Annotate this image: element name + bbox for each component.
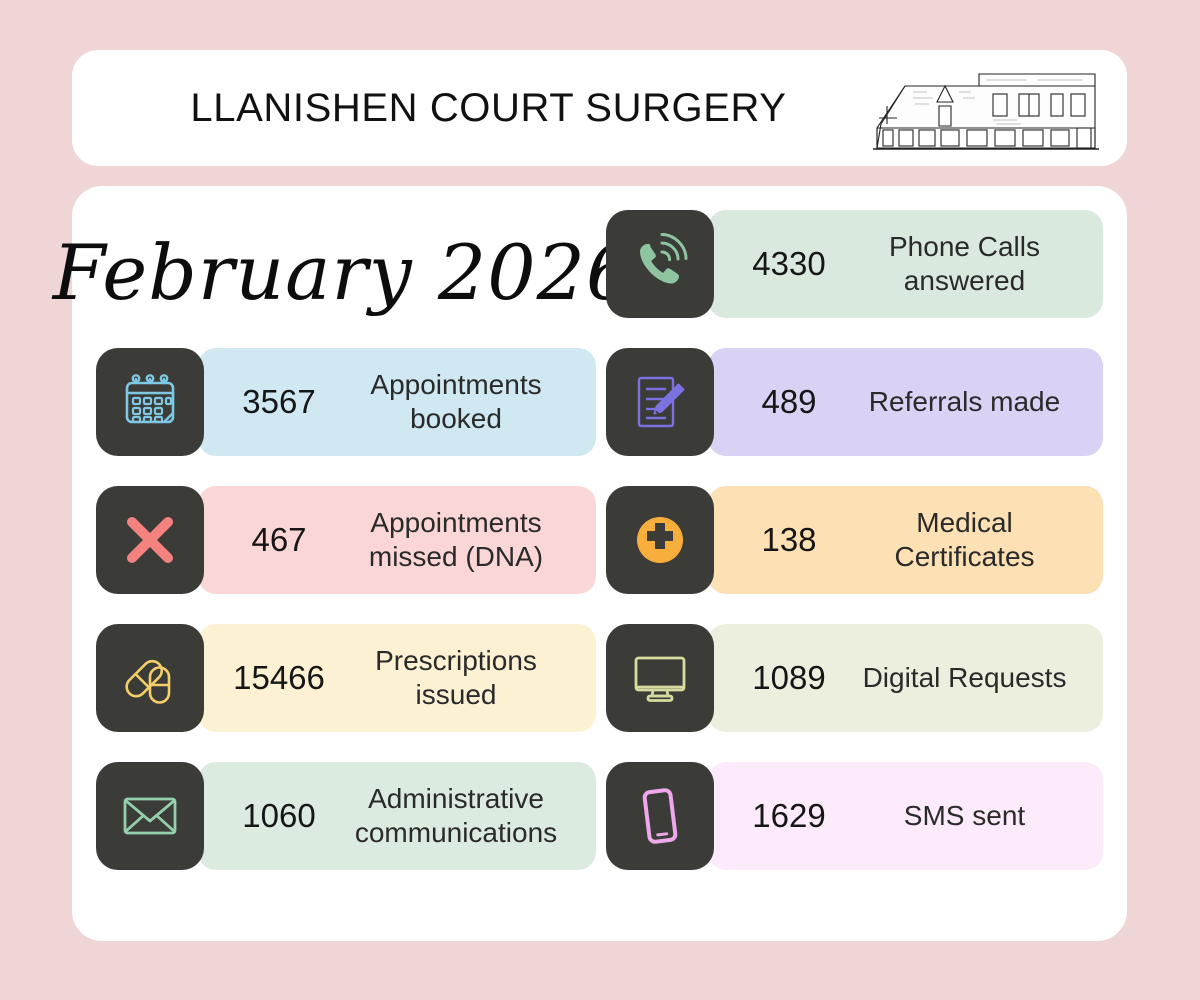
stat-label-sms-sent: SMS sent — [848, 799, 1085, 833]
monitor-icon — [606, 624, 714, 732]
stat-label-prescriptions-issued: Prescriptions issued — [338, 644, 578, 712]
stats-panel: February 2026 4330Phone Calls answered35… — [72, 186, 1127, 941]
stat-card-referrals-made: 489Referrals made — [606, 348, 1103, 456]
stat-value-appointments-missed-dna: 467 — [220, 522, 338, 558]
stat-body-appointments-missed-dna: 467Appointments missed (DNA) — [198, 486, 596, 594]
stat-body-phone-calls-answered: 4330Phone Calls answered — [708, 210, 1103, 318]
medical-cross-circle-icon — [606, 486, 714, 594]
page-title: LLANISHEN COURT SURGERY — [72, 86, 865, 131]
stat-label-appointments-booked: Appointments booked — [338, 368, 578, 436]
stat-label-appointments-missed-dna: Appointments missed (DNA) — [338, 506, 578, 574]
surgery-building-sketch-icon — [865, 60, 1105, 156]
stat-body-referrals-made: 489Referrals made — [708, 348, 1103, 456]
stats-grid: 4330Phone Calls answered3567Appointments… — [72, 186, 1127, 941]
stat-card-phone-calls-answered: 4330Phone Calls answered — [606, 210, 1103, 318]
pills-capsule-icon — [96, 624, 204, 732]
smartphone-icon — [606, 762, 714, 870]
stat-label-administrative-communications: Administrative communications — [338, 782, 578, 850]
stat-card-administrative-communications: 1060Administrative communications — [96, 762, 596, 870]
stat-card-sms-sent: 1629SMS sent — [606, 762, 1103, 870]
stat-body-administrative-communications: 1060Administrative communications — [198, 762, 596, 870]
stat-label-medical-certificates: Medical Certificates — [848, 506, 1085, 574]
stat-body-medical-certificates: 138Medical Certificates — [708, 486, 1103, 594]
stat-value-digital-requests: 1089 — [730, 660, 848, 696]
stat-card-digital-requests: 1089Digital Requests — [606, 624, 1103, 732]
stat-body-appointments-booked: 3567Appointments booked — [198, 348, 596, 456]
stat-body-sms-sent: 1629SMS sent — [708, 762, 1103, 870]
infographic-page: LLANISHEN COURT SURGERY — [0, 0, 1200, 1000]
stat-value-administrative-communications: 1060 — [220, 798, 338, 834]
stat-label-phone-calls-answered: Phone Calls answered — [848, 230, 1085, 298]
stat-card-medical-certificates: 138Medical Certificates — [606, 486, 1103, 594]
envelope-icon — [96, 762, 204, 870]
stat-value-medical-certificates: 138 — [730, 522, 848, 558]
stat-label-referrals-made: Referrals made — [848, 385, 1085, 419]
stat-card-appointments-missed-dna: 467Appointments missed (DNA) — [96, 486, 596, 594]
header-panel: LLANISHEN COURT SURGERY — [72, 50, 1127, 166]
stat-value-appointments-booked: 3567 — [220, 384, 338, 420]
phone-ringing-icon — [606, 210, 714, 318]
cross-x-icon — [96, 486, 204, 594]
stat-card-prescriptions-issued: 15466Prescriptions issued — [96, 624, 596, 732]
stat-value-referrals-made: 489 — [730, 384, 848, 420]
stat-label-digital-requests: Digital Requests — [848, 661, 1085, 695]
stat-body-prescriptions-issued: 15466Prescriptions issued — [198, 624, 596, 732]
stat-value-sms-sent: 1629 — [730, 798, 848, 834]
stat-value-prescriptions-issued: 15466 — [220, 660, 338, 696]
document-pencil-icon — [606, 348, 714, 456]
stat-value-phone-calls-answered: 4330 — [730, 246, 848, 282]
calendar-icon — [96, 348, 204, 456]
stat-card-appointments-booked: 3567Appointments booked — [96, 348, 596, 456]
stat-body-digital-requests: 1089Digital Requests — [708, 624, 1103, 732]
